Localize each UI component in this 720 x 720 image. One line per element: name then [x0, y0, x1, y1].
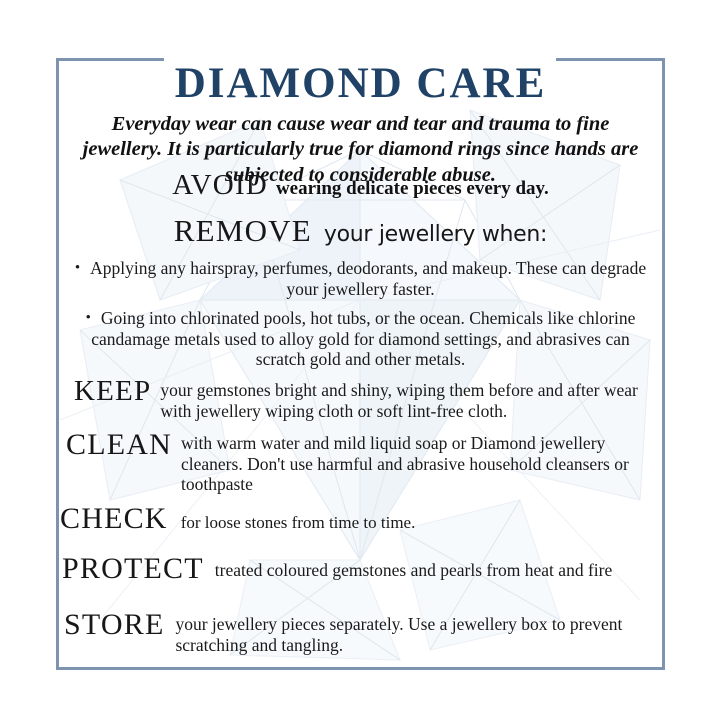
store-text: your jewellery pieces separately. Use a … [164, 610, 665, 655]
bullet-marker: • [75, 260, 80, 276]
remove-row: REMOVEyour jewellery when: [56, 216, 665, 247]
remove-text: your jewellery when: [324, 222, 547, 247]
protect-keyword: PROTECT [62, 554, 204, 584]
check-keyword: CHECK [60, 504, 168, 534]
list-item-text: Applying any hairspray, perfumes, deodor… [90, 258, 646, 299]
check-text: for loose stones from time to time. [168, 504, 665, 534]
avoid-row: AVOIDwearing delicate pieces every day. [56, 170, 665, 200]
avoid-text: wearing delicate pieces every day. [276, 178, 549, 199]
keep-text: your gemstones bright and shiny, wiping … [151, 376, 665, 421]
section-protect: PROTECT treated coloured gemstones and p… [62, 554, 665, 584]
page-title: DIAMOND CARE [56, 58, 665, 110]
avoid-keyword: AVOID [172, 169, 268, 201]
clean-text: with warm water and mild liquid soap or … [172, 430, 665, 495]
remove-bullet-list: •Applying any hairspray, perfumes, deodo… [66, 258, 655, 379]
section-clean: CLEAN with warm water and mild liquid so… [66, 430, 665, 495]
bullet-marker: • [86, 310, 91, 326]
section-check: CHECK for loose stones from time to time… [60, 504, 665, 534]
remove-keyword: REMOVE [174, 213, 312, 248]
poster-content: DIAMOND CARE Everyday wear can cause wea… [56, 58, 665, 670]
protect-text: treated coloured gemstones and pearls fr… [204, 554, 665, 581]
list-item-text: Going into chlorinated pools, hot tubs, … [91, 308, 635, 369]
list-item: •Applying any hairspray, perfumes, deodo… [66, 258, 655, 299]
diamond-care-poster: DIAMOND CARE Everyday wear can cause wea… [0, 0, 720, 720]
keep-keyword: KEEP [74, 376, 151, 406]
list-item: •Going into chlorinated pools, hot tubs,… [66, 308, 655, 370]
section-store: STORE your jewellery pieces separately. … [64, 610, 665, 655]
section-keep: KEEP your gemstones bright and shiny, wi… [74, 376, 665, 421]
store-keyword: STORE [64, 610, 164, 640]
clean-keyword: CLEAN [66, 430, 172, 460]
